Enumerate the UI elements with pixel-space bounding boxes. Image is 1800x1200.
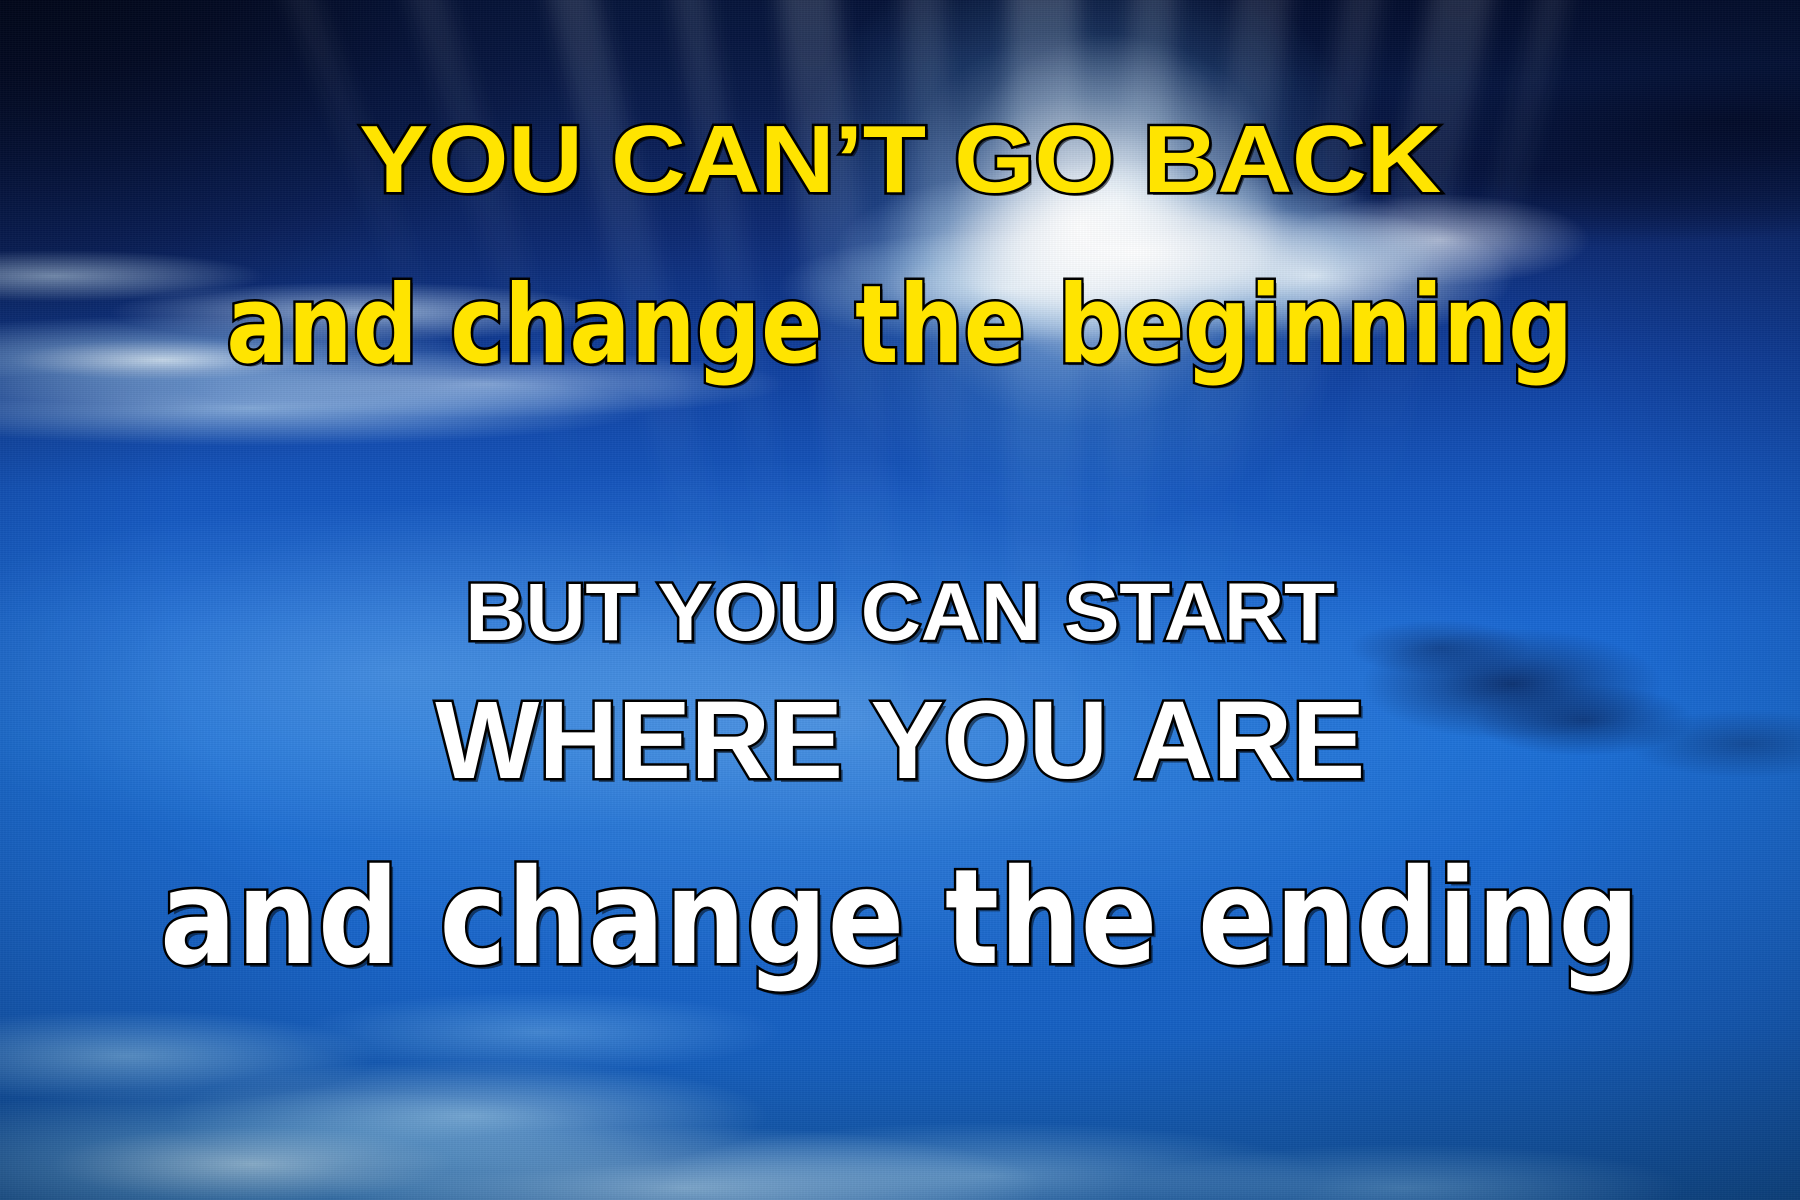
quote-line-2: and change the beginning	[63, 272, 1737, 380]
quote-poster: YOU CAN’T GO BACK and change the beginni…	[0, 0, 1800, 1200]
quote-line-1: YOU CAN’T GO BACK	[0, 112, 1800, 208]
quote-line-3: BUT YOU CAN START	[0, 572, 1800, 654]
quote-line-5: and change the ending	[45, 852, 1755, 984]
quote-text-block: YOU CAN’T GO BACK and change the beginni…	[0, 0, 1800, 1200]
quote-line-4: WHERE YOU ARE	[0, 686, 1800, 796]
